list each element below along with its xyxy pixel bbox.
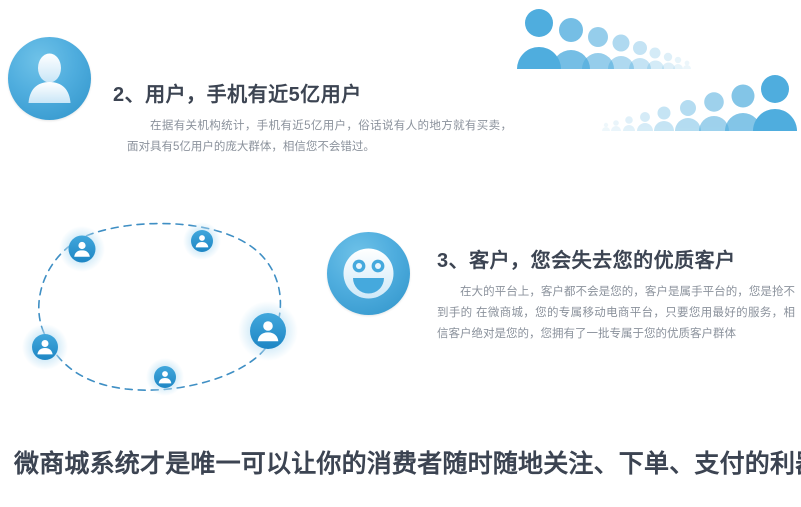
crowd-people-ascending-graphic [600,70,800,139]
network-node-top-left [59,226,105,272]
footer-headline: 微商城系统才是唯一可以让你的消费者随时随地关注、下单、支付的利器。 [14,447,794,481]
section-users-title: 2、用户，手机有近5亿用户 [113,82,593,108]
user-avatar-icon [8,37,91,120]
section-users: 2、用户，手机有近5亿用户 在据有关机构统计，手机有近5亿用户，俗话说有人的地方… [113,82,593,158]
promo-page: 2、用户，手机有近5亿用户 在据有关机构统计，手机有近5亿用户，俗话说有人的地方… [0,0,801,507]
section-customers: 3、客户，您会失去您的优质客户 在大的平台上，客户都不会是您的，客户是属手平台的… [437,248,797,345]
section-customers-body: 在大的平台上，客户都不会是您的，客户是属手平台的，您是抢不到手的 在微商城，您的… [437,282,795,345]
network-node-top-right [183,222,221,260]
network-node-bottom-center [146,358,184,396]
crowd-people-descending-graphic [513,2,693,77]
smiley-face-icon [327,232,410,315]
network-node-right-large [238,301,298,361]
dashed-cloud-network-graphic [10,205,330,410]
network-node-left [22,324,68,370]
section-customers-title: 3、客户，您会失去您的优质客户 [437,248,797,274]
section-users-body: 在据有关机构统计，手机有近5亿用户，俗话说有人的地方就有买卖，面对具有5亿用户的… [127,116,512,158]
